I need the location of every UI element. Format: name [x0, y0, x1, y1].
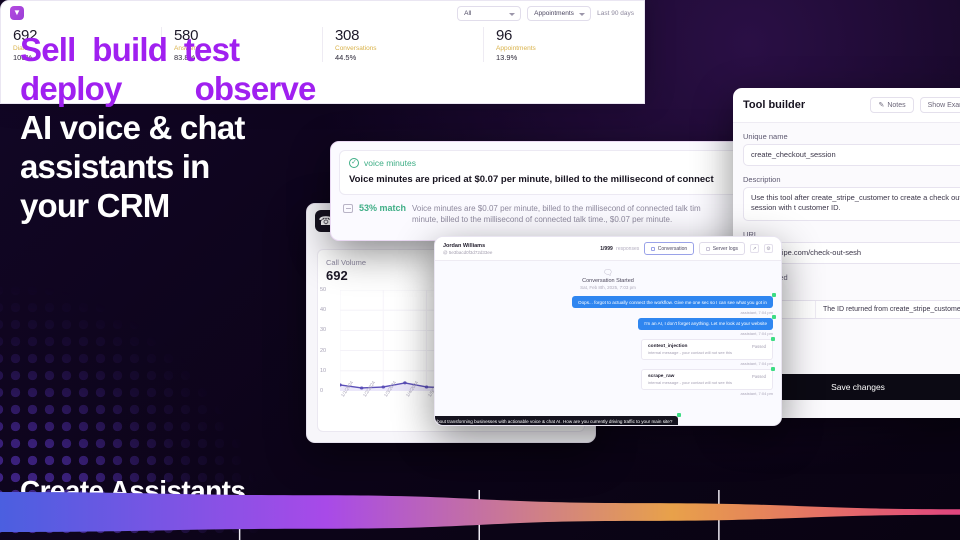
- tool-call-top: scrape_raw Passed: [648, 374, 766, 379]
- tool-call-meta: assistant, 7:04 pm: [741, 391, 773, 396]
- headline-comma-3: ,: [239, 31, 247, 68]
- contact-id: @ 5e3bacd0f3d72d33ee: [443, 250, 492, 255]
- chart-data-point: [425, 385, 429, 388]
- tab-server-logs-label: Server logs: [713, 246, 738, 252]
- chart-y-tick: 40: [320, 307, 326, 313]
- chart-data-point: [381, 385, 385, 388]
- contact-name: Jordan Williams: [443, 243, 492, 249]
- metric-value: 96: [496, 27, 632, 44]
- funnel-controls: All Appointments Last 90 days: [1, 1, 644, 21]
- tool-call-row: context_injection Passed internal messag…: [443, 339, 773, 366]
- voice-minutes-body: Voice minutes are priced at $0.07 per mi…: [349, 174, 756, 185]
- headline-comma-2: ,: [167, 31, 184, 68]
- message-counter: 1/999 responses: [598, 246, 639, 252]
- match-percentage: 53% match: [359, 203, 406, 213]
- keyword-observe: observe: [195, 70, 316, 107]
- date-range-label: Last 90 days: [597, 10, 634, 17]
- tool-call-name: context_injection: [648, 344, 687, 349]
- delivered-icon: [772, 315, 776, 319]
- keyword-sell: Sell: [20, 31, 76, 68]
- match-snippet-line-2: minute, billed to the millisecond of con…: [412, 214, 701, 225]
- tool-call-name: scrape_raw: [648, 374, 674, 379]
- message-counter-value: 1/999: [600, 246, 613, 252]
- filter-icon[interactable]: ▼: [10, 6, 24, 20]
- chart-data-point: [360, 386, 364, 389]
- voice-minutes-inner: ✓ voice minutes Voice minutes are priced…: [339, 150, 766, 195]
- unique-name-input[interactable]: create_checkout_session: [743, 144, 960, 166]
- message-counter-label: responses: [616, 246, 639, 252]
- notes-button[interactable]: ✎ Notes: [870, 97, 913, 113]
- funnel-shape: [0, 490, 960, 540]
- chart-data-point: [403, 381, 407, 384]
- tab-server-logs[interactable]: Server logs: [699, 242, 745, 255]
- chart-y-tick: 50: [320, 287, 326, 293]
- match-snippet: Voice minutes are $0.07 per minute, bill…: [412, 203, 701, 225]
- chart-y-tick: 10: [320, 368, 326, 374]
- hero-screenshot: Sell, build, test, deploy and observe AI…: [0, 0, 960, 540]
- headline-line-2: deploy and observe: [20, 69, 420, 108]
- tool-call-status: Passed: [752, 374, 766, 379]
- message-row: I'm an AI, I don't forget anything. Let …: [443, 318, 773, 337]
- description-input[interactable]: Use this tool after create_stripe_custom…: [743, 187, 960, 221]
- voice-minutes-card: ✓ voice minutes Voice minutes are priced…: [330, 141, 775, 241]
- conversation-header: Jordan Williams @ 5e3bacd0f3d72d33ee 1/9…: [435, 237, 781, 261]
- tool-call-status: Passed: [752, 344, 766, 349]
- share-icon[interactable]: ↗: [750, 244, 759, 253]
- voice-minutes-tag: voice minutes: [364, 158, 416, 168]
- delivered-icon: [772, 293, 776, 297]
- chart-y-tick: 0: [320, 388, 323, 394]
- headline-line-1: Sell, build, test,: [20, 30, 420, 69]
- notes-button-label: Notes: [887, 102, 905, 109]
- metric-label: Appointments: [496, 45, 632, 52]
- chart-y-tick: 20: [320, 348, 326, 354]
- chat-bubble-icon: 🗨: [443, 268, 773, 277]
- conversation-body: 🗨 Conversation Started Sat, Feb 8th, 202…: [435, 261, 781, 426]
- contact-info: Jordan Williams @ 5e3bacd0f3d72d33ee: [443, 243, 492, 255]
- tool-builder-actions: ✎ Notes Show Exam: [870, 97, 960, 113]
- conversation-started-label: Conversation Started: [443, 278, 773, 284]
- conversation-panel: Jordan Williams @ 5e3bacd0f3d72d33ee 1/9…: [434, 236, 782, 426]
- conversation-started-block: 🗨 Conversation Started Sat, Feb 8th, 202…: [443, 268, 773, 290]
- tool-call-description: internal message - your contact will not…: [648, 350, 766, 355]
- voice-minutes-header: ✓ voice minutes: [349, 158, 756, 168]
- assistant-message-bubble[interactable]: I see Assistable.ai is all about transfo…: [434, 416, 678, 427]
- tab-conversation-label: Conversation: [658, 246, 687, 252]
- chart-y-tick: 30: [320, 327, 326, 333]
- chat-bubble-icon: [651, 247, 655, 251]
- conversation-header-actions: 1/999 responses Conversation Server logs…: [598, 242, 773, 255]
- note-icon: [343, 204, 353, 213]
- conversation-started-time: Sat, Feb 8th, 2025, 7:03 pm: [443, 285, 773, 290]
- message-meta: assistant, 7:04 pm: [741, 310, 773, 315]
- tool-builder-title: Tool builder: [743, 99, 805, 111]
- assistant-message-row: I see Assistable.ai is all about transfo…: [434, 416, 773, 427]
- select-metric-dropdown[interactable]: Appointments: [527, 6, 591, 21]
- pencil-icon: ✎: [878, 101, 884, 109]
- tool-call-meta: assistant, 7:04 pm: [741, 361, 773, 366]
- success-icon: [771, 367, 775, 371]
- parameter-description-cell: The ID returned from create_stripe_custo…: [816, 301, 960, 318]
- headline-and: and: [122, 70, 195, 107]
- voice-minutes-match-row: 53% match Voice minutes are $0.07 per mi…: [339, 195, 766, 225]
- keyword-test: test: [184, 31, 240, 68]
- tool-call-card[interactable]: context_injection Passed internal messag…: [641, 339, 773, 360]
- tool-call-row: scrape_raw Passed internal message - you…: [443, 369, 773, 396]
- tool-call-card[interactable]: scrape_raw Passed internal message - you…: [641, 369, 773, 390]
- tool-call-description: internal message - your contact will not…: [648, 380, 766, 385]
- tool-call-top: context_injection Passed: [648, 344, 766, 349]
- message-bubble[interactable]: I'm an AI, I don't forget anything. Let …: [638, 318, 773, 330]
- trash-icon[interactable]: ⚙: [764, 244, 773, 253]
- check-circle-icon: ✓: [349, 158, 359, 168]
- success-icon: [771, 337, 775, 341]
- message-bubble[interactable]: Oops... forgot to actually connect the w…: [572, 296, 773, 308]
- metric-percent: 13.9%: [496, 53, 632, 62]
- delivered-icon: [677, 413, 681, 417]
- keyword-build: build: [92, 31, 167, 68]
- headline-comma-1: ,: [76, 31, 93, 68]
- unique-name-label: Unique name: [743, 132, 960, 141]
- description-label: Description: [743, 175, 960, 184]
- logs-icon: [706, 247, 710, 251]
- message-row: Oops... forgot to actually connect the w…: [443, 296, 773, 315]
- select-all-dropdown[interactable]: All: [457, 6, 521, 21]
- tool-builder-header: Tool builder ✎ Notes Show Exam: [733, 88, 960, 123]
- show-examples-button[interactable]: Show Exam: [920, 97, 960, 113]
- keyword-deploy: deploy: [20, 70, 122, 107]
- message-meta: assistant, 7:04 pm: [741, 331, 773, 336]
- metric-appointments[interactable]: 96 Appointments 13.9%: [484, 27, 644, 62]
- tab-conversation[interactable]: Conversation: [644, 242, 694, 255]
